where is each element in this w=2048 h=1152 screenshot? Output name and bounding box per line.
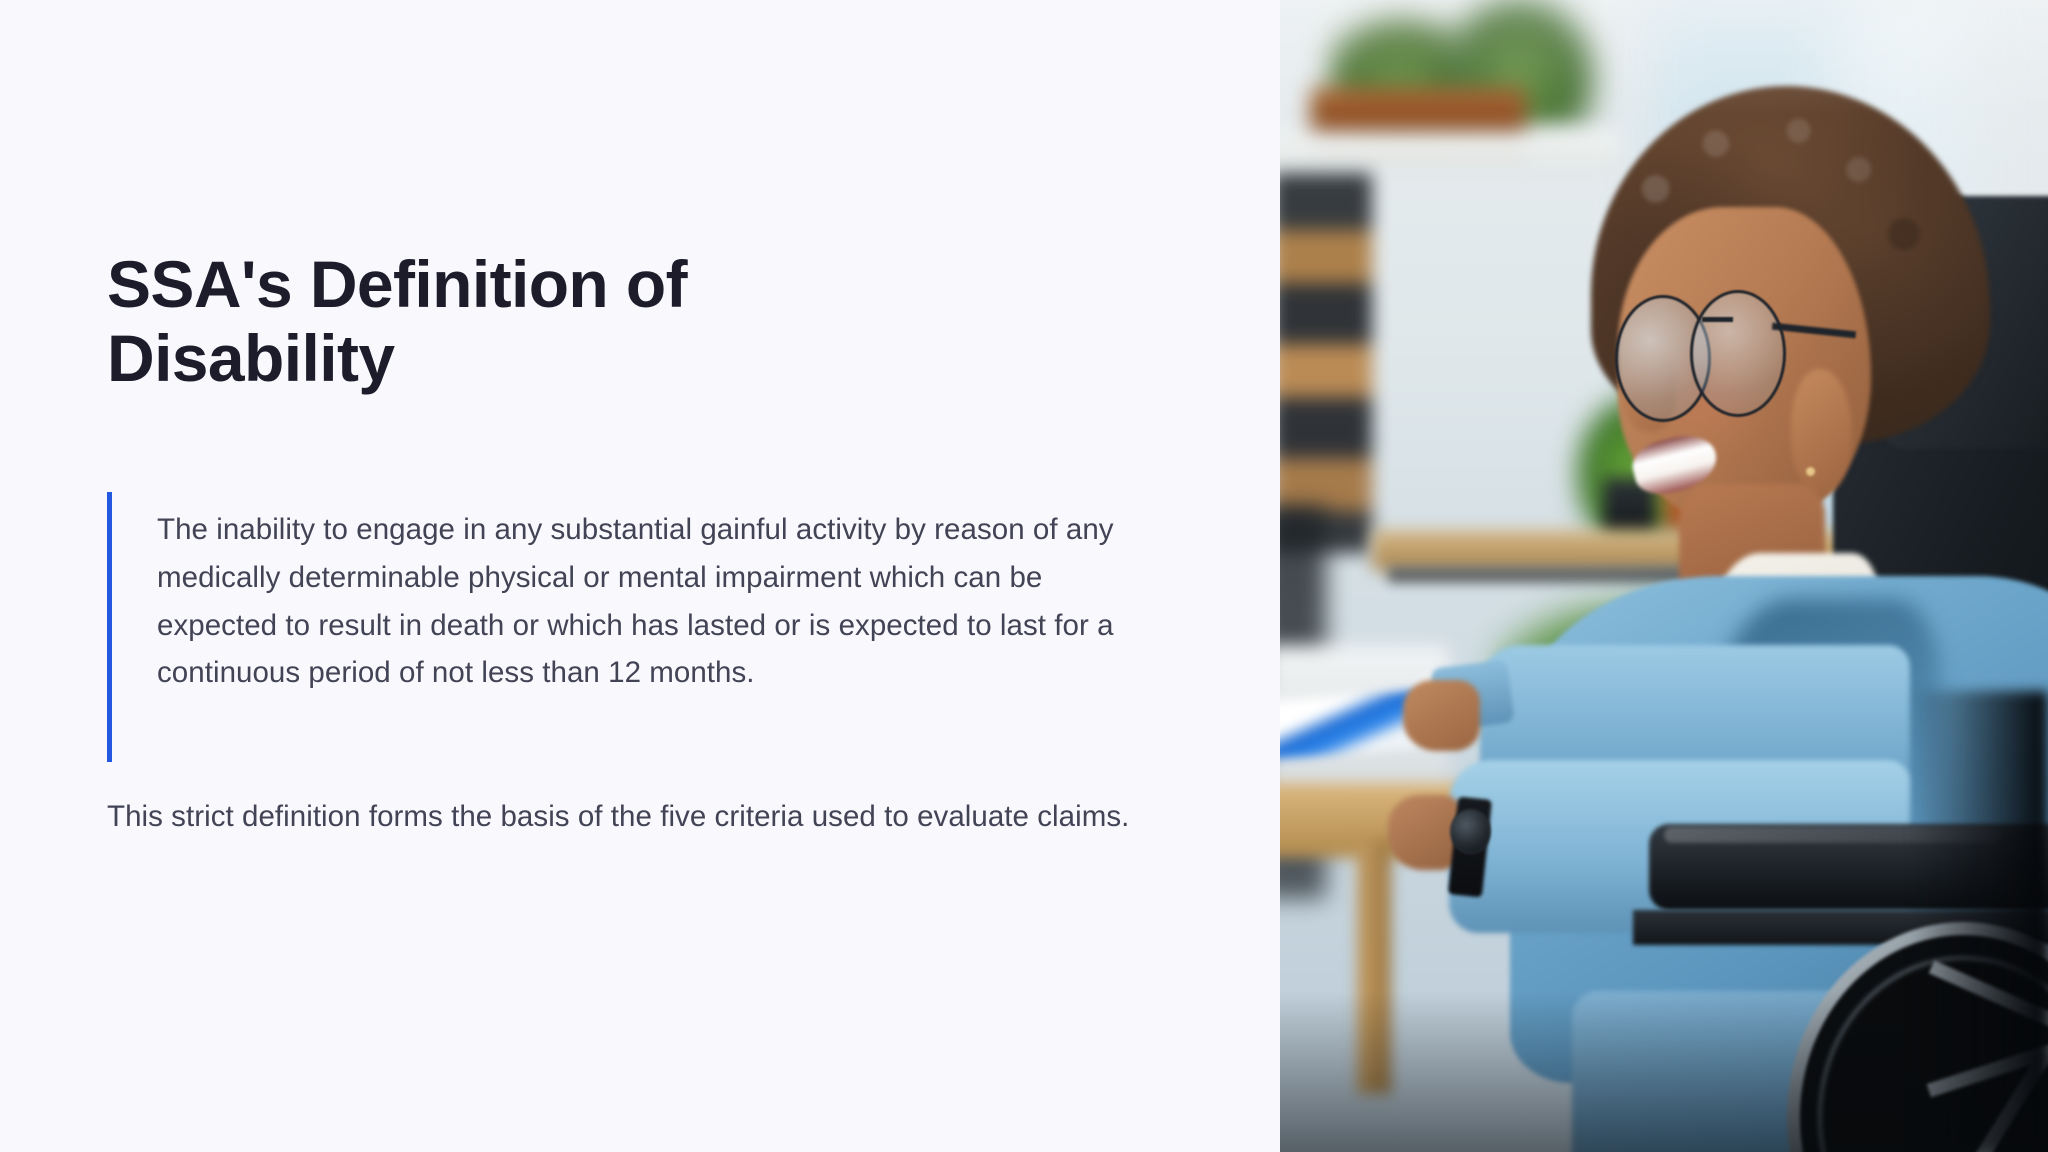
photo-panel xyxy=(1280,0,2048,1152)
slide-root: SSA's Definition of Disability The inabi… xyxy=(0,0,2048,1152)
wristwatch-face xyxy=(1450,809,1491,854)
ear xyxy=(1791,369,1852,496)
photo-top-highlight xyxy=(1280,0,2048,115)
page-title: SSA's Definition of Disability xyxy=(107,248,867,396)
photo-bottom-vignette xyxy=(1280,991,2048,1152)
earring xyxy=(1806,467,1815,476)
closing-paragraph: This strict definition forms the basis o… xyxy=(107,793,1177,841)
upper-hand xyxy=(1403,680,1480,751)
content-pane: SSA's Definition of Disability The inabi… xyxy=(0,0,1280,1152)
definition-quote-block: The inability to engage in any substanti… xyxy=(107,492,1167,762)
definition-quote-text: The inability to engage in any substanti… xyxy=(157,492,1167,697)
eyeglasses-right-lens xyxy=(1690,290,1786,417)
eyeglasses-bridge xyxy=(1702,317,1733,322)
